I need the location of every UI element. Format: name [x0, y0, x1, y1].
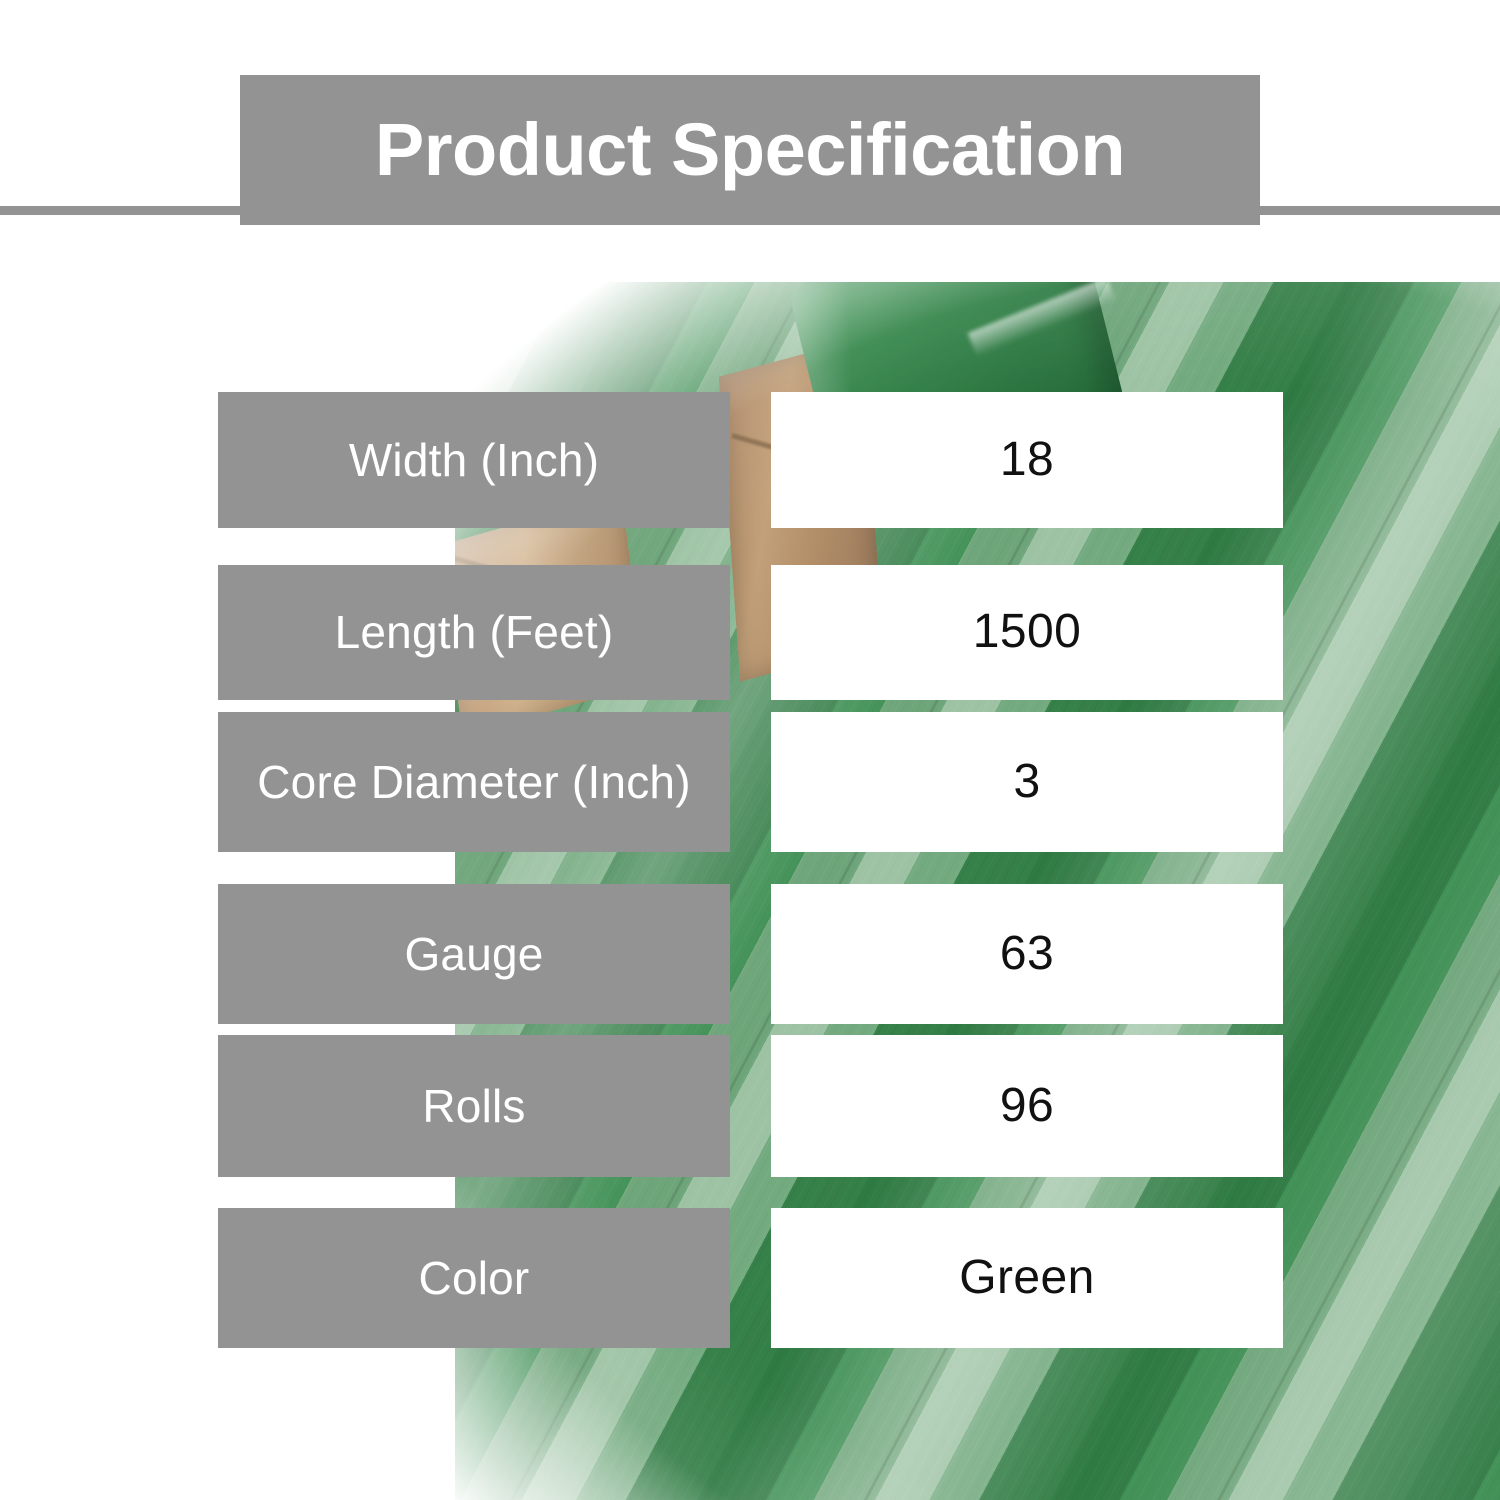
- specification-table: Width (Inch) 18 Length (Feet) 1500 Core …: [0, 0, 1500, 1500]
- spec-value-gauge: 63: [771, 884, 1283, 1024]
- spec-label-width: Width (Inch): [218, 392, 730, 528]
- spec-value-core-diameter: 3: [771, 712, 1283, 852]
- spec-value-rolls: 96: [771, 1035, 1283, 1177]
- spec-label-color: Color: [218, 1208, 730, 1348]
- spec-label-gauge: Gauge: [218, 884, 730, 1024]
- spec-value-length: 1500: [771, 565, 1283, 700]
- poster-canvas: Product Specification Width (Inch) 18 Le…: [0, 0, 1500, 1500]
- spec-value-width: 18: [771, 392, 1283, 528]
- spec-label-core-diameter: Core Diameter (Inch): [218, 712, 730, 852]
- spec-value-color: Green: [771, 1208, 1283, 1348]
- spec-label-length: Length (Feet): [218, 565, 730, 700]
- spec-label-rolls: Rolls: [218, 1035, 730, 1177]
